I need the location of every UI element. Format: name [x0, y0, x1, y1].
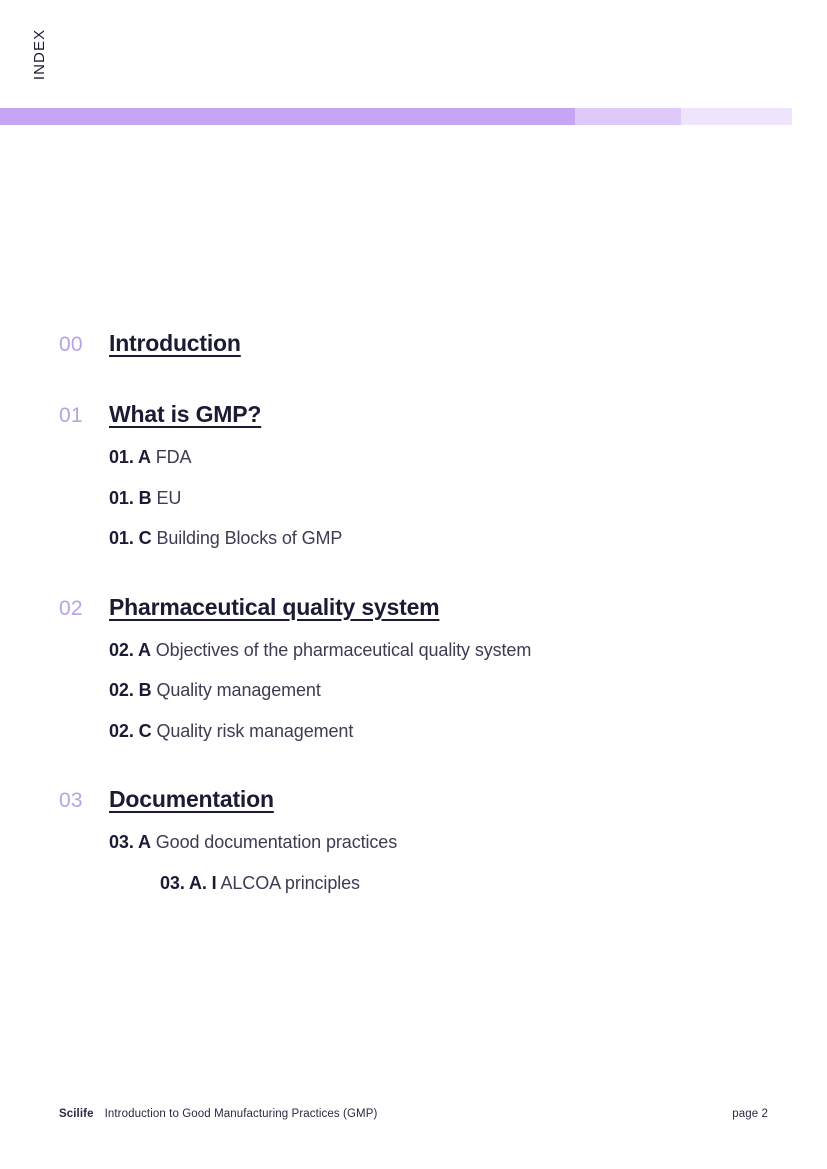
- index-sub-item-prefix: 01. A: [109, 447, 151, 467]
- footer-brand: Scilife: [59, 1108, 94, 1120]
- index-section-header[interactable]: 00Introduction: [0, 330, 827, 357]
- segment-dark: [0, 108, 575, 125]
- index-section-number: 00: [59, 333, 109, 357]
- footer-document-title: Introduction to Good Manufacturing Pract…: [105, 1108, 378, 1120]
- index-section-number: 02: [59, 597, 109, 621]
- index-section-title[interactable]: Documentation: [109, 786, 274, 813]
- index-sub-item-label: EU: [156, 488, 181, 508]
- index-sub-item-prefix: 03. A. I: [160, 873, 217, 893]
- index-sub-item[interactable]: 02. C Quality risk management: [0, 720, 827, 743]
- index-section-header[interactable]: 01What is GMP?: [0, 401, 827, 428]
- index-section-number: 01: [59, 404, 109, 428]
- index-sub-item-label: Good documentation practices: [156, 832, 397, 852]
- segment-light: [681, 108, 792, 125]
- index-side-label-text: INDEX: [32, 28, 49, 79]
- index-sub-item[interactable]: 03. A. I ALCOA principles: [0, 872, 827, 895]
- index-section: 00Introduction: [0, 330, 827, 357]
- index-section-title[interactable]: What is GMP?: [109, 401, 261, 428]
- page-footer: Scilife Introduction to Good Manufacturi…: [59, 1108, 768, 1120]
- index-section: 03Documentation03. A Good documentation …: [0, 786, 827, 894]
- index-sub-item-prefix: 03. A: [109, 832, 151, 852]
- index-sub-item-label: Quality management: [156, 680, 320, 700]
- index-sub-item-prefix: 01. C: [109, 528, 152, 548]
- index-sub-item[interactable]: 03. A Good documentation practices: [0, 831, 827, 854]
- index-side-label: INDEX: [0, 0, 80, 108]
- index-sub-item[interactable]: 02. A Objectives of the pharmaceutical q…: [0, 639, 827, 662]
- index-section: 02Pharmaceutical quality system02. A Obj…: [0, 594, 827, 743]
- index-sub-item-prefix: 01. B: [109, 488, 152, 508]
- index-section-title[interactable]: Introduction: [109, 330, 241, 357]
- index-sub-item[interactable]: 01. C Building Blocks of GMP: [0, 527, 827, 550]
- segment-medium: [575, 108, 681, 125]
- index-sub-item-label: Objectives of the pharmaceutical quality…: [156, 640, 531, 660]
- index-sub-item[interactable]: 01. A FDA: [0, 446, 827, 469]
- index-sub-item-prefix: 02. A: [109, 640, 151, 660]
- index-section-header[interactable]: 02Pharmaceutical quality system: [0, 594, 827, 621]
- index-sub-item[interactable]: 01. B EU: [0, 487, 827, 510]
- index-sub-item-prefix: 02. B: [109, 680, 152, 700]
- footer-page-number: page 2: [732, 1108, 768, 1120]
- index-sub-item-label: Quality risk management: [156, 721, 353, 741]
- index-sub-item-label: ALCOA principles: [220, 873, 359, 893]
- index-list: 00Introduction01What is GMP?01. A FDA01.…: [0, 330, 827, 894]
- index-sub-item-prefix: 02. C: [109, 721, 152, 741]
- index-section: 01What is GMP?01. A FDA01. B EU01. C Bui…: [0, 401, 827, 550]
- index-sub-item[interactable]: 02. B Quality management: [0, 679, 827, 702]
- index-section-header[interactable]: 03Documentation: [0, 786, 827, 813]
- top-gradient-bar: [0, 108, 792, 125]
- index-section-title[interactable]: Pharmaceutical quality system: [109, 594, 439, 621]
- index-section-number: 03: [59, 789, 109, 813]
- index-sub-item-label: FDA: [156, 447, 192, 467]
- index-sub-item-label: Building Blocks of GMP: [156, 528, 342, 548]
